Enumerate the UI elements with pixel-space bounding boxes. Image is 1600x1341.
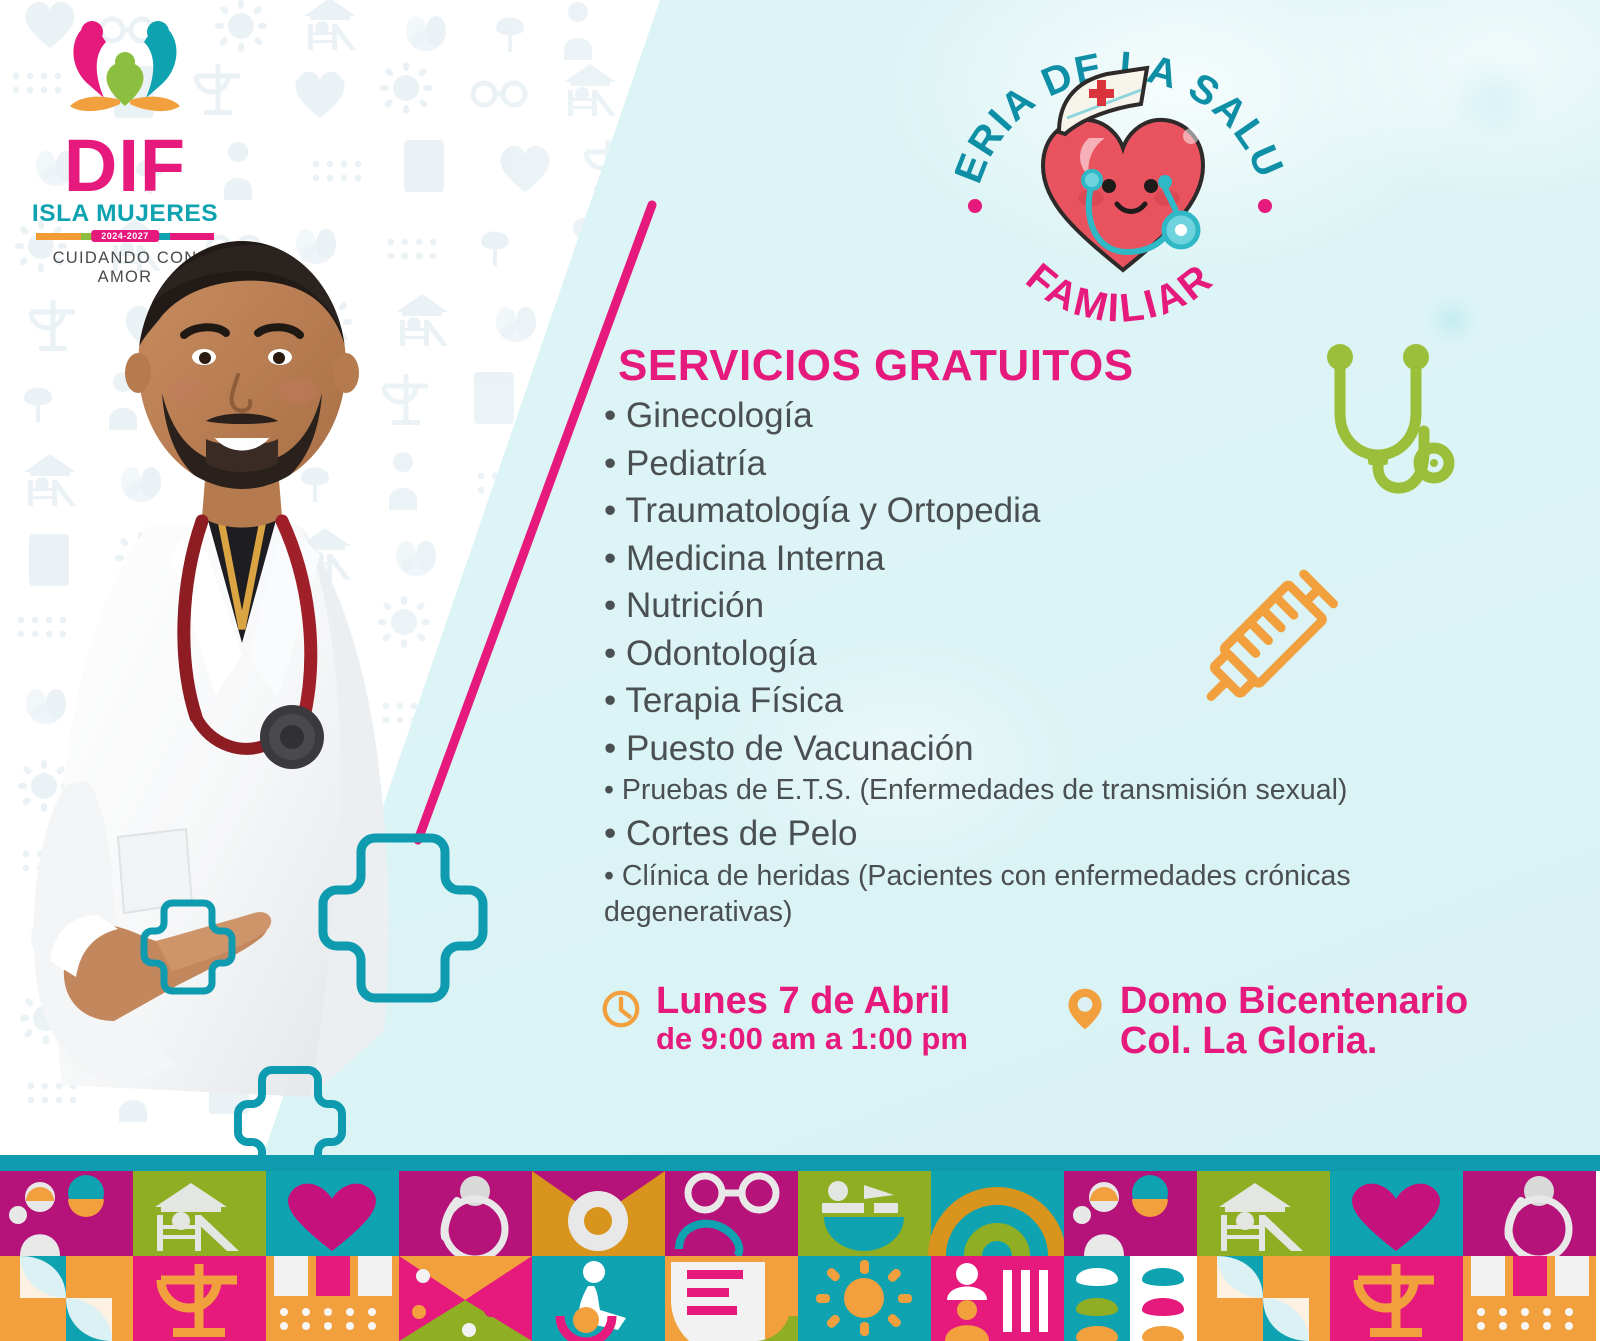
venue-colony: Col. La Gloria. xyxy=(1120,1022,1468,1062)
list-item: • Terapia Física xyxy=(604,678,1544,724)
event-venue-block: Domo Bicentenario Col. La Gloria. xyxy=(1064,982,1468,1061)
feria-de-la-salud-logo: FERIA DE LA SALUD FAMILIAR xyxy=(955,8,1285,328)
event-date-block: Lunes 7 de Abril de 9:00 am a 1:00 pm xyxy=(600,982,968,1056)
list-item: • Pruebas de E.T.S. (Enfermedades de tra… xyxy=(604,773,1544,809)
medical-cross-icon xyxy=(136,895,240,999)
list-item: • Nutrición xyxy=(604,583,1544,629)
list-item: • Odontología xyxy=(604,631,1544,677)
list-item: • Medicina Interna xyxy=(604,536,1544,582)
list-item: • Ginecología xyxy=(604,393,1544,439)
services-list: • Ginecología • Pediatría • Traumatologí… xyxy=(604,393,1544,930)
event-time: de 9:00 am a 1:00 pm xyxy=(656,1022,968,1056)
bottom-pictogram-banner xyxy=(0,1155,1600,1341)
map-pin-icon xyxy=(1064,986,1106,1032)
clock-icon xyxy=(600,986,642,1032)
event-date: Lunes 7 de Abril xyxy=(656,982,968,1022)
banner-teal-strip xyxy=(0,1155,1600,1171)
page-title: SERVICIOS GRATUITOS xyxy=(618,343,1544,389)
dif-municipality: ISLA MUJERES xyxy=(30,200,220,228)
list-item: • Pediatría xyxy=(604,441,1544,487)
event-details: Lunes 7 de Abril de 9:00 am a 1:00 pm Do… xyxy=(600,982,1560,1061)
dif-wordmark: DIF xyxy=(30,134,220,198)
dif-emblem-icon xyxy=(50,14,200,134)
banner-tile-grid xyxy=(0,1171,1600,1341)
health-fair-poster: DIF ISLA MUJERES 2024-2027 CUIDANDO CON … xyxy=(0,0,1600,1341)
medical-cross-icon xyxy=(313,828,493,1008)
venue-name: Domo Bicentenario xyxy=(1120,982,1468,1022)
list-item: • Cortes de Pelo xyxy=(604,811,1544,857)
list-item: • Puesto de Vacunación xyxy=(604,726,1544,772)
services-content: SERVICIOS GRATUITOS • Ginecología • Pedi… xyxy=(604,343,1544,932)
list-item: • Clínica de heridas (Pacientes con enfe… xyxy=(604,859,1544,931)
list-item: • Traumatología y Ortopedia xyxy=(604,488,1544,534)
